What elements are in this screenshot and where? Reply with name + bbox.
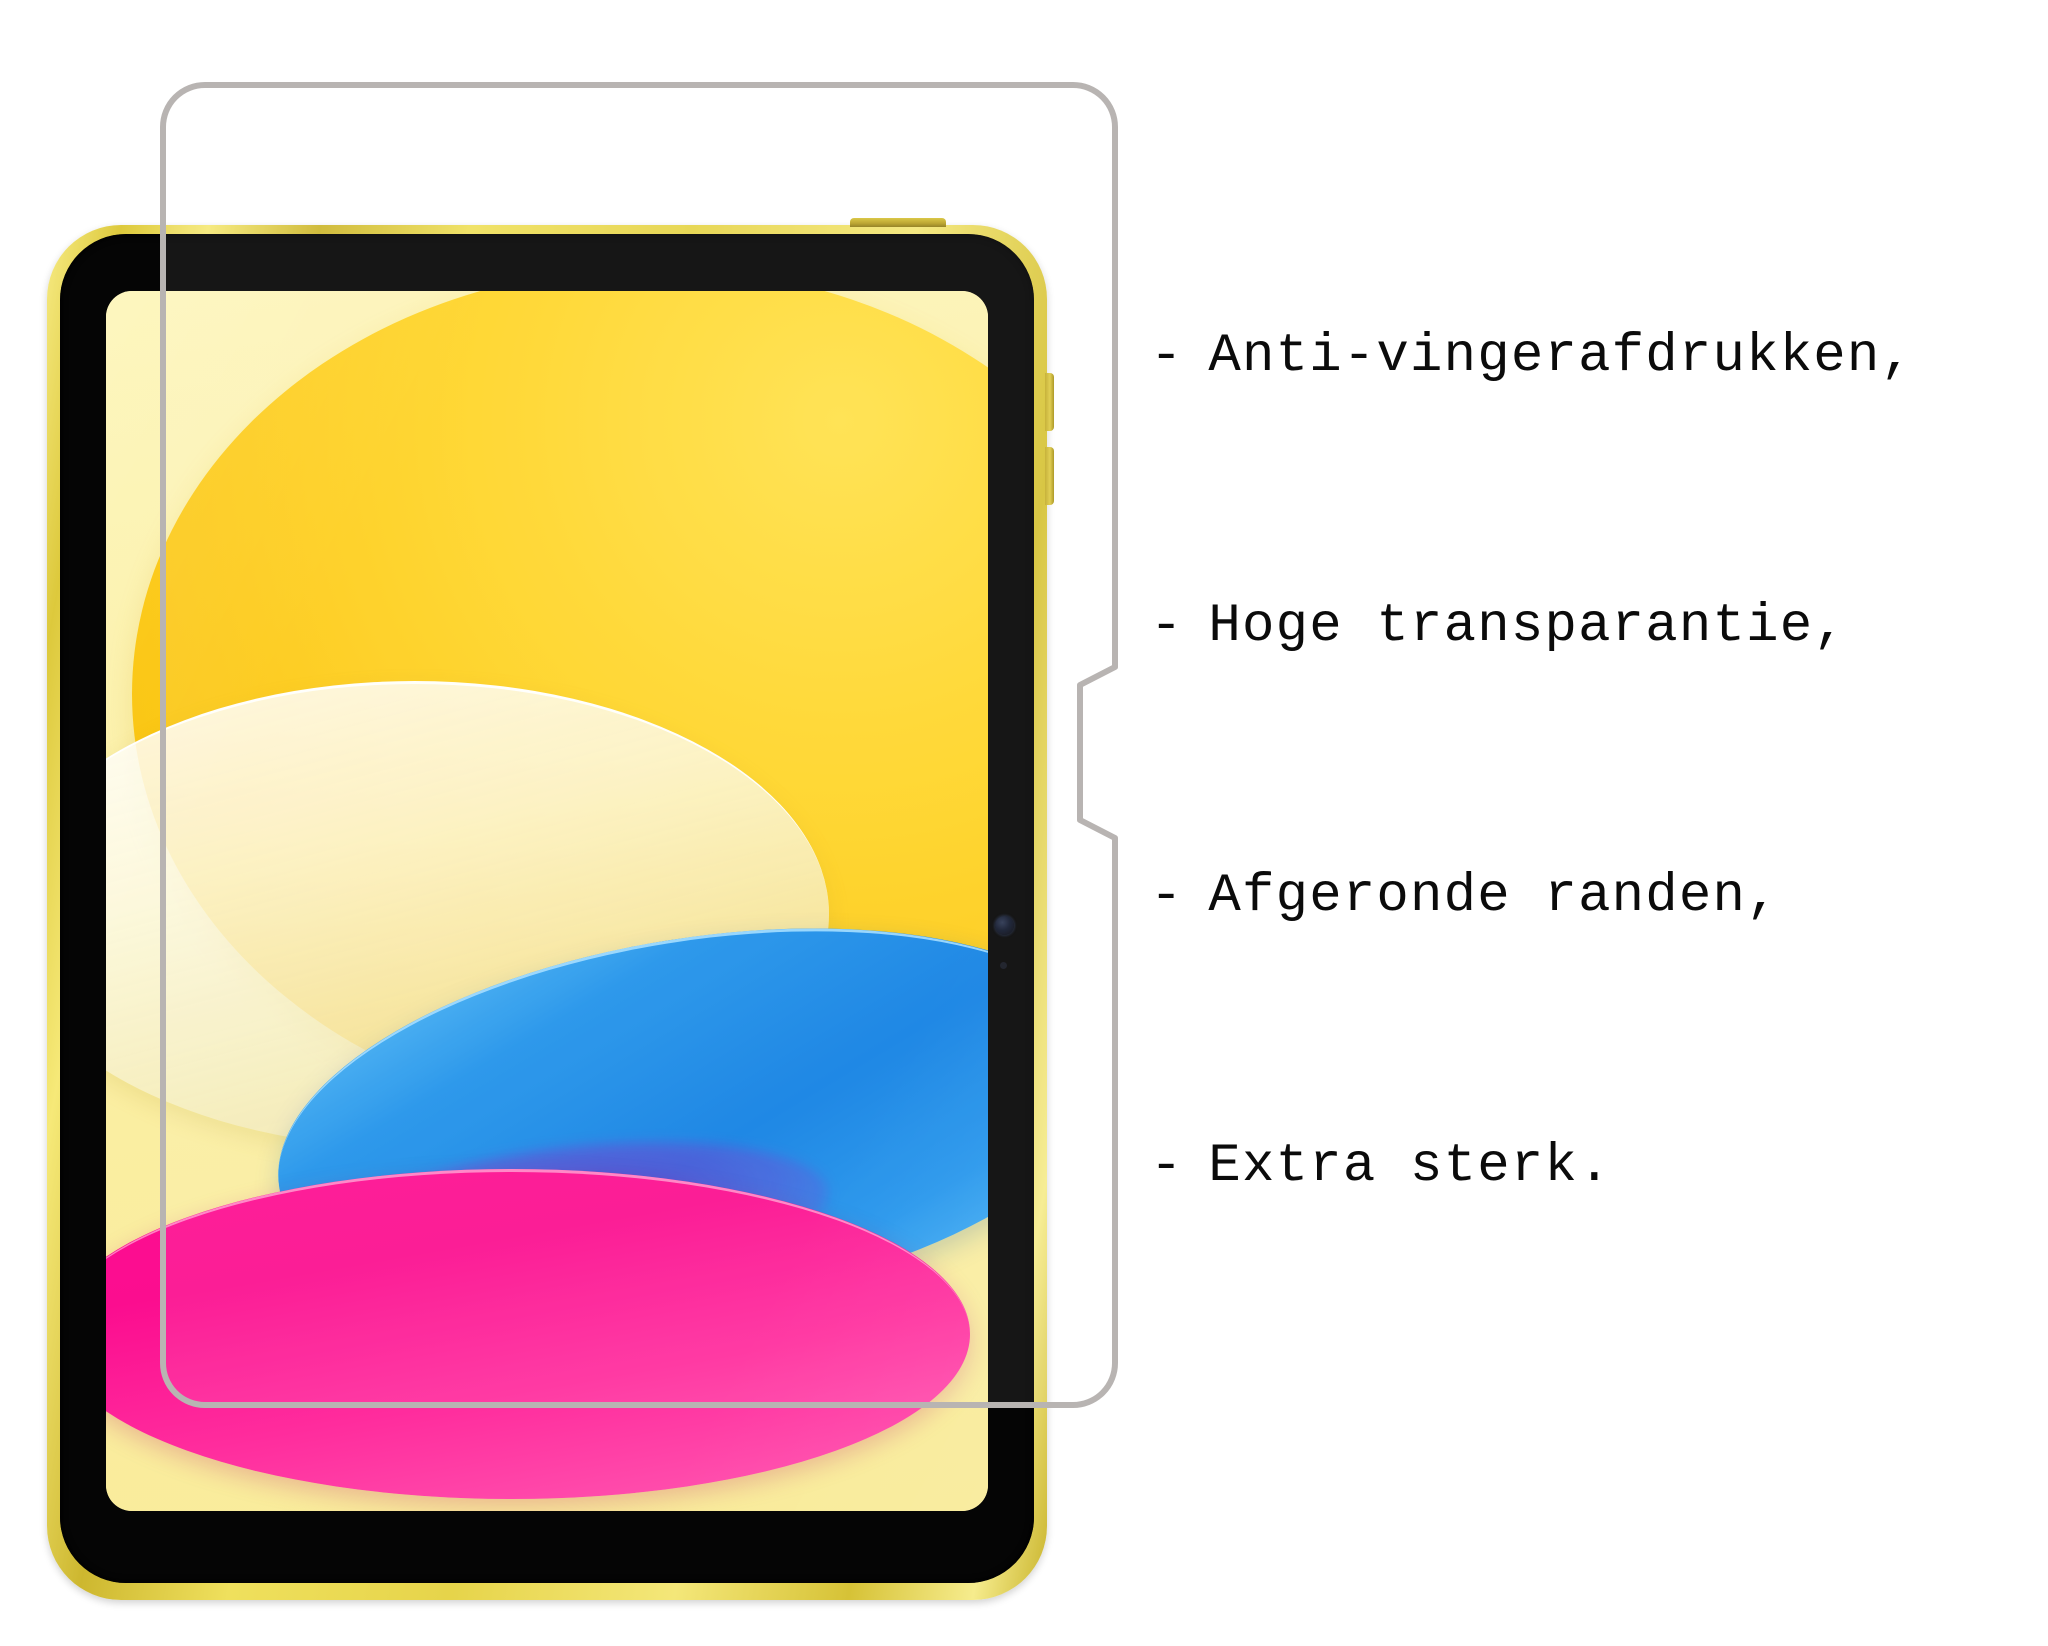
bullet-marker: - <box>1150 330 1182 384</box>
feature-list: - Anti-vingerafdrukken, - Hoge transpara… <box>1150 330 2040 1410</box>
device-bezel <box>60 234 1034 1583</box>
feature-item-1: - Anti-vingerafdrukken, <box>1150 330 2040 600</box>
power-button-icon <box>850 218 946 227</box>
product-image-canvas: - Anti-vingerafdrukken, - Hoge transpara… <box>0 0 2048 1646</box>
device-display <box>106 291 988 1511</box>
feature-item-4: - Extra sterk. <box>1150 1140 2040 1410</box>
camera-icon <box>995 916 1014 935</box>
feature-label: Hoge transparantie, <box>1208 600 1847 654</box>
volume-down-button-icon <box>1045 447 1054 505</box>
bullet-marker: - <box>1150 1140 1182 1194</box>
bullet-marker: - <box>1150 600 1182 654</box>
feature-label: Anti-vingerafdrukken, <box>1208 330 1914 384</box>
feature-item-3: - Afgeronde randen, <box>1150 870 2040 1140</box>
feature-label: Extra sterk. <box>1208 1140 1611 1194</box>
bullet-marker: - <box>1150 870 1182 924</box>
feature-label: Afgeronde randen, <box>1208 870 1779 924</box>
volume-up-button-icon <box>1045 373 1054 431</box>
sensor-icon <box>1000 962 1007 969</box>
ipad-device <box>47 225 1047 1600</box>
feature-item-2: - Hoge transparantie, <box>1150 600 2040 870</box>
